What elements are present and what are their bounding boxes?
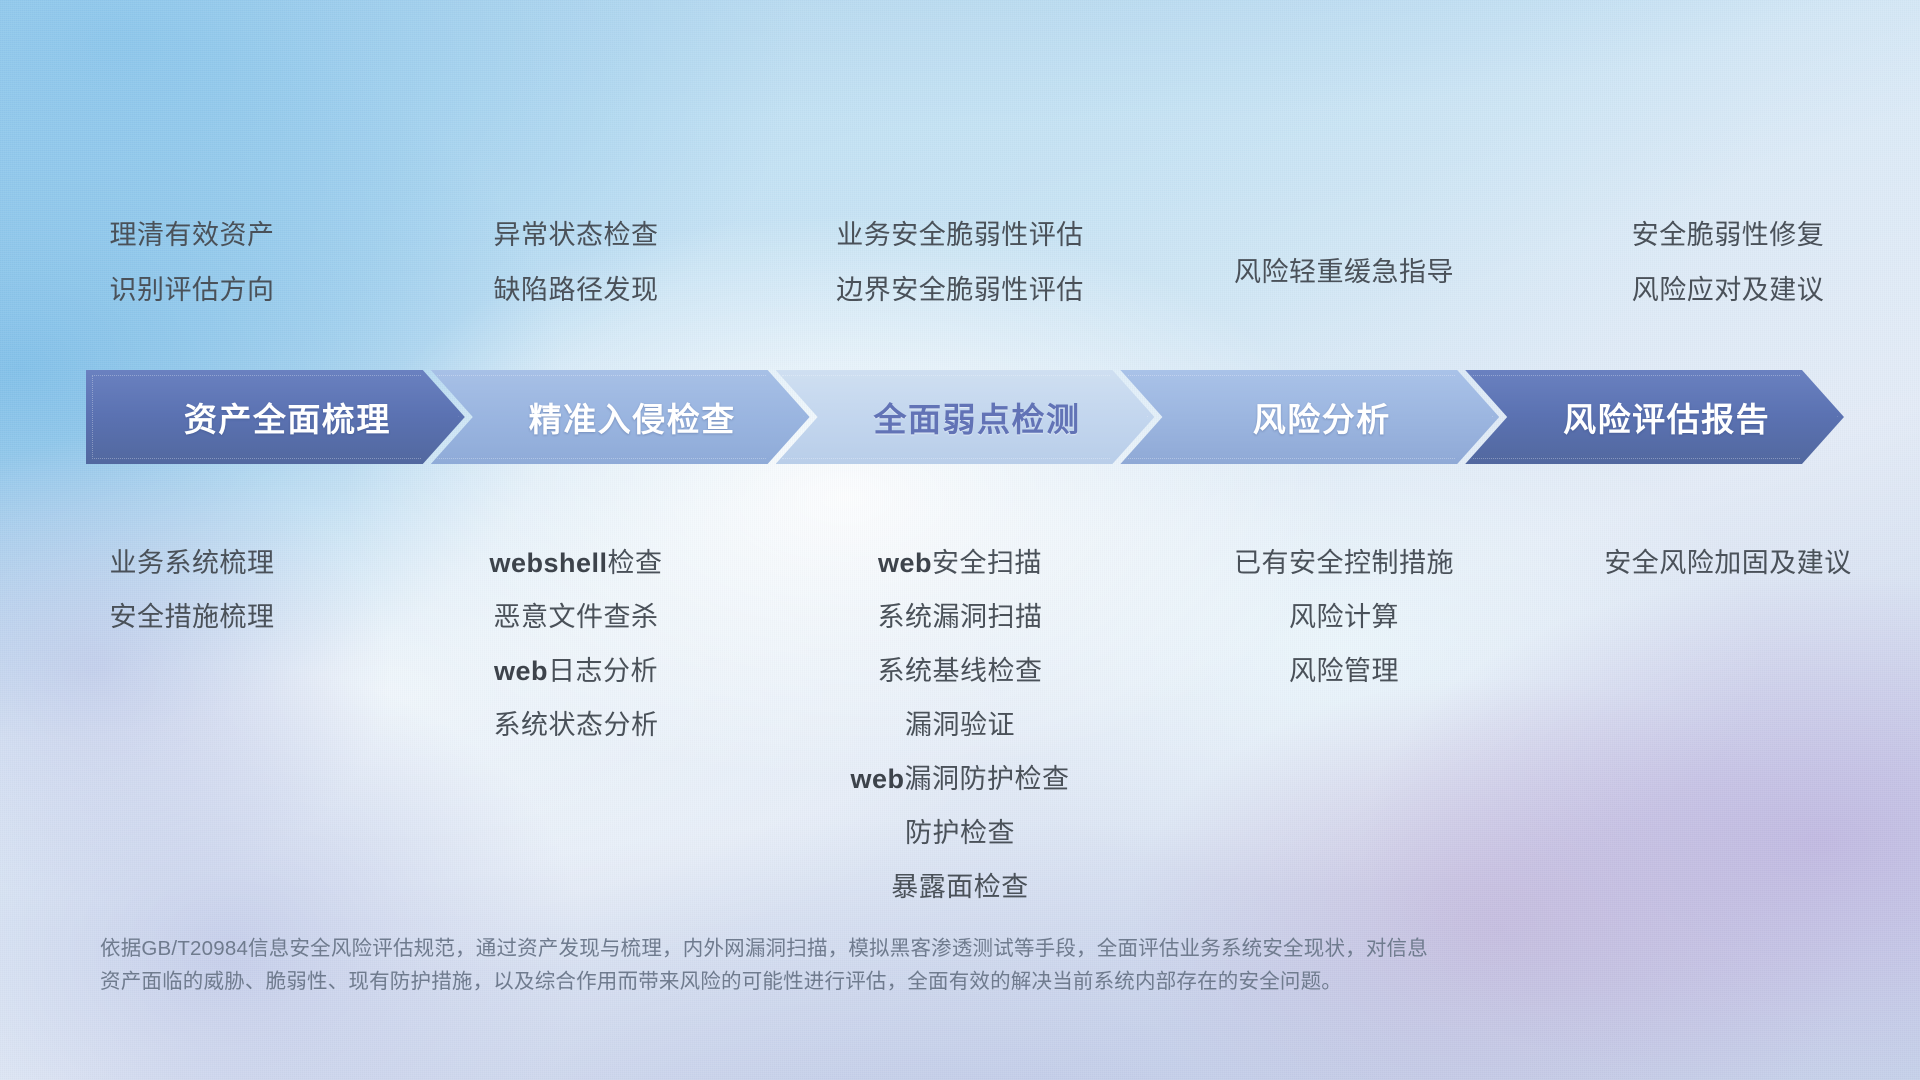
activity-item: 安全措施梳理	[110, 604, 275, 631]
stage-title: 全面弱点检测	[873, 393, 1080, 441]
stage-title: 风险评估报告	[1563, 393, 1770, 441]
top-outcomes-risk-analysis: 风险轻重缓急指导	[1152, 222, 1536, 332]
activity-item: 系统漏洞扫描	[878, 604, 1043, 631]
top-outcome-item: 边界安全脆弱性评估	[836, 277, 1084, 304]
stage-chevron-assessment-report[interactable]: 风险评估报告	[1465, 370, 1844, 464]
top-outcomes-assessment-report: 安全脆弱性修复风险应对及建议	[1536, 222, 1920, 332]
activity-item: web日志分析	[494, 658, 658, 685]
top-outcome-item: 安全脆弱性修复	[1632, 222, 1825, 249]
top-outcome-item: 风险应对及建议	[1632, 277, 1825, 304]
top-outcomes-weakness-detection: 业务安全脆弱性评估边界安全脆弱性评估	[768, 222, 1152, 332]
stage-title: 资产全面梳理	[184, 393, 391, 441]
stage-chevron-intrusion-check[interactable]: 精准入侵检查	[431, 370, 810, 464]
activity-item: 系统基线检查	[878, 658, 1043, 685]
risk-assessment-process-diagram: 理清有效资产识别评估方向异常状态检查缺陷路径发现业务安全脆弱性评估边界安全脆弱性…	[0, 0, 1920, 1080]
stage-title: 风险分析	[1253, 393, 1391, 441]
activity-item-keyword: webshell	[489, 548, 607, 578]
top-outcome-item: 业务安全脆弱性评估	[836, 222, 1084, 249]
bottom-activities-asset-inventory: 业务系统梳理安全措施梳理	[0, 550, 384, 928]
top-outcomes-intrusion-check: 异常状态检查缺陷路径发现	[384, 222, 768, 332]
activity-item: webshell检查	[489, 550, 662, 577]
footer-line-2: 资产面临的威胁、脆弱性、现有防护措施，以及综合作用而带来风险的可能性进行评估，全…	[100, 965, 1760, 998]
activity-item: web安全扫描	[878, 550, 1042, 577]
activity-item: 漏洞验证	[905, 712, 1015, 739]
activity-item: 恶意文件查杀	[494, 604, 659, 631]
activity-item-keyword: web	[878, 548, 932, 578]
bottom-activities-assessment-report: 安全风险加固及建议	[1536, 550, 1920, 928]
top-outcomes-row: 理清有效资产识别评估方向异常状态检查缺陷路径发现业务安全脆弱性评估边界安全脆弱性…	[0, 222, 1920, 332]
stage-title: 精准入侵检查	[529, 393, 736, 441]
top-outcome-item: 识别评估方向	[110, 277, 275, 304]
stage-chevron-asset-inventory[interactable]: 资产全面梳理	[86, 370, 465, 464]
top-outcome-item: 缺陷路径发现	[494, 277, 659, 304]
footer-description: 依据GB/T20984信息安全风险评估规范，通过资产发现与梳理，内外网漏洞扫描，…	[100, 932, 1760, 998]
top-outcome-item: 异常状态检查	[494, 222, 659, 249]
activity-item-text: 漏洞防护检查	[905, 764, 1070, 794]
stage-chevron-weakness-detection[interactable]: 全面弱点检测	[776, 370, 1155, 464]
bottom-activities-weakness-detection: web安全扫描系统漏洞扫描系统基线检查漏洞验证web漏洞防护检查防护检查暴露面检…	[768, 550, 1152, 928]
activity-item-keyword: web	[494, 656, 548, 686]
process-stage-band: 资产全面梳理精准入侵检查全面弱点检测风险分析风险评估报告	[86, 370, 1844, 464]
top-outcome-item: 风险轻重缓急指导	[1234, 259, 1454, 286]
footer-line-1: 依据GB/T20984信息安全风险评估规范，通过资产发现与梳理，内外网漏洞扫描，…	[100, 932, 1760, 965]
bottom-activities-risk-analysis: 已有安全控制措施风险计算风险管理	[1152, 550, 1536, 928]
top-outcome-item: 理清有效资产	[110, 222, 275, 249]
activity-item: 风险管理	[1289, 658, 1399, 685]
activity-item: web漏洞防护检查	[850, 766, 1069, 793]
activity-item: 暴露面检查	[891, 874, 1029, 901]
activity-item: 防护检查	[905, 820, 1015, 847]
bottom-activities-row: 业务系统梳理安全措施梳理webshell检查恶意文件查杀web日志分析系统状态分…	[0, 550, 1920, 928]
top-outcomes-asset-inventory: 理清有效资产识别评估方向	[0, 222, 384, 332]
activity-item-keyword: web	[850, 764, 904, 794]
activity-item: 风险计算	[1289, 604, 1399, 631]
activity-item: 安全风险加固及建议	[1604, 550, 1852, 577]
activity-item: 已有安全控制措施	[1234, 550, 1454, 577]
stage-chevron-risk-analysis[interactable]: 风险分析	[1120, 370, 1499, 464]
bottom-activities-intrusion-check: webshell检查恶意文件查杀web日志分析系统状态分析	[384, 550, 768, 928]
activity-item-text: 安全扫描	[932, 548, 1042, 578]
activity-item-text: 检查	[608, 548, 663, 578]
activity-item: 系统状态分析	[494, 712, 659, 739]
activity-item: 业务系统梳理	[110, 550, 275, 577]
activity-item-text: 日志分析	[548, 656, 658, 686]
